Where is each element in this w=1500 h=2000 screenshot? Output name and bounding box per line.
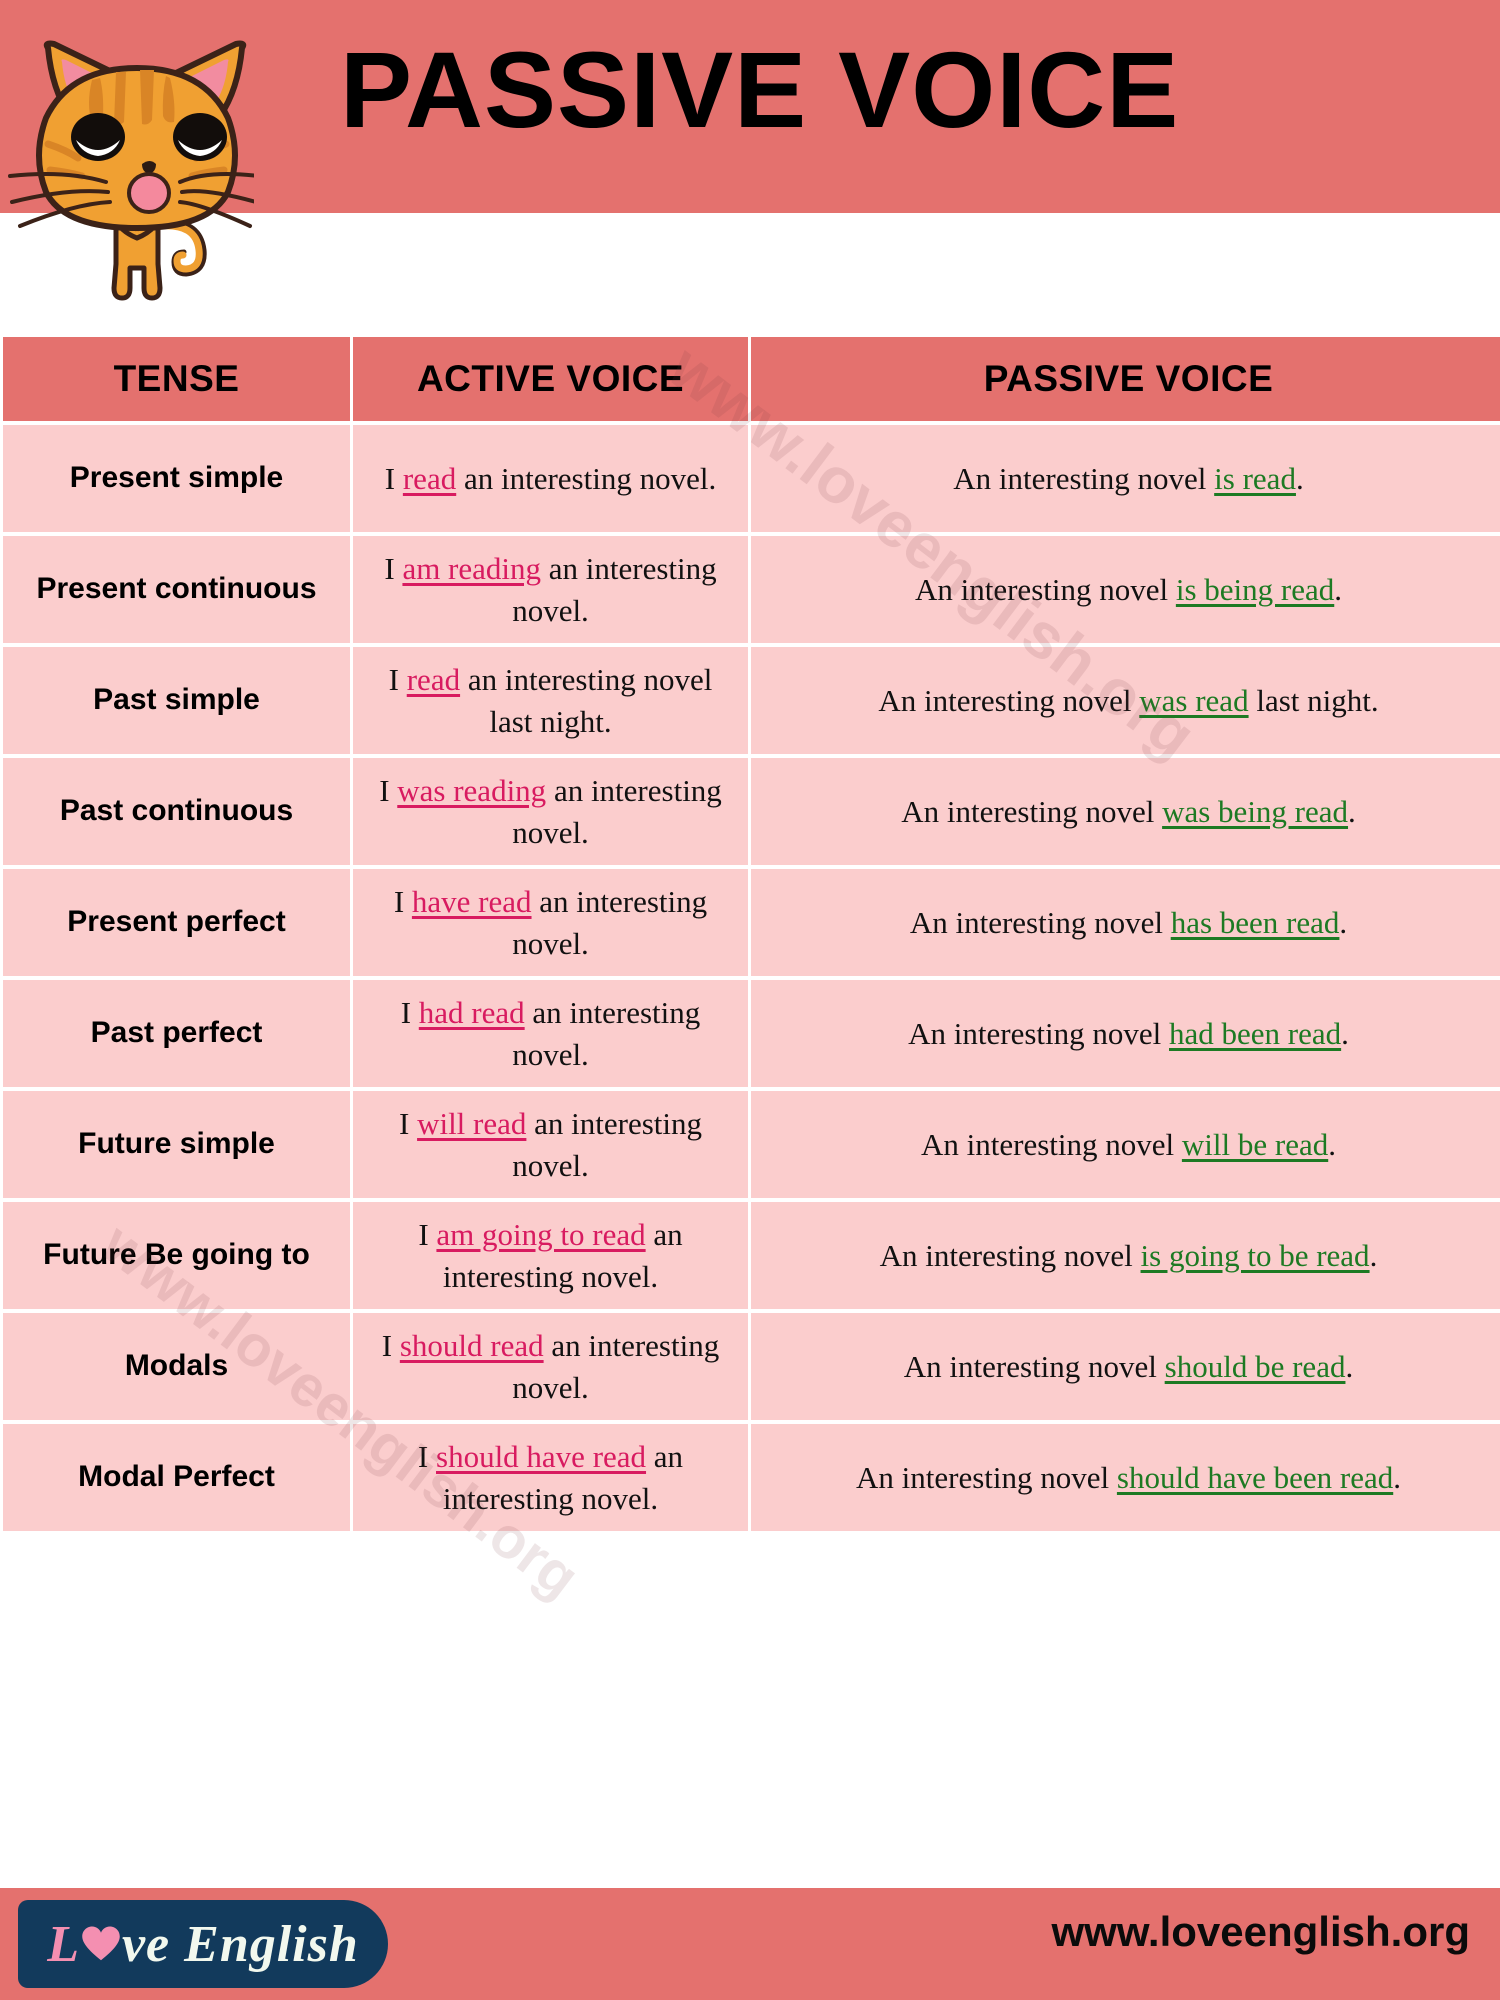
passive-highlight: is being read [1176, 572, 1334, 607]
active-post: an interesting novel. [456, 461, 716, 496]
active-sentence: I am reading an interesting novel. [353, 536, 748, 643]
passive-highlight: should be read [1165, 1349, 1346, 1384]
page-title: PASSIVE VOICE [340, 36, 1340, 144]
heart-icon [81, 1924, 121, 1964]
passive-post: . [1370, 1238, 1378, 1273]
passive-post: . [1393, 1460, 1401, 1495]
active-pre: I [401, 995, 419, 1030]
passive-pre: An interesting novel [910, 905, 1171, 940]
active-highlight: have read [412, 884, 532, 919]
infographic-page: PASSIVE VOICE [0, 0, 1500, 2000]
table-header-row: TENSE ACTIVE VOICE PASSIVE VOICE [3, 337, 1500, 421]
active-post: an interesting novel last night. [460, 662, 712, 739]
tense-label: Past simple [3, 647, 350, 754]
passive-sentence: An interesting novel has been read. [751, 869, 1500, 976]
active-post: an interesting novel. [512, 1106, 702, 1183]
logo-suffix: ve English [122, 1915, 359, 1974]
passive-highlight: had been read [1169, 1016, 1341, 1051]
table-row: Modal Perfect I should have read an inte… [3, 1424, 1500, 1531]
passive-highlight: was being read [1162, 794, 1348, 829]
passive-sentence: An interesting novel was being read. [751, 758, 1500, 865]
tense-label: Modals [3, 1313, 350, 1420]
tense-label: Past continuous [3, 758, 350, 865]
table-body: Present simple I read an interesting nov… [3, 425, 1500, 1531]
table-row: Present perfect I have read an interesti… [3, 869, 1500, 976]
passive-highlight: is read [1214, 461, 1296, 496]
active-pre: I [418, 1217, 436, 1252]
tense-label: Future Be going to [3, 1202, 350, 1309]
passive-pre: An interesting novel [878, 683, 1139, 718]
active-sentence: I read an interesting novel last night. [353, 647, 748, 754]
active-sentence: I had read an interesting novel. [353, 980, 748, 1087]
love-english-logo[interactable]: L ve English [18, 1900, 388, 1988]
active-pre: I [394, 884, 412, 919]
logo-prefix: L [47, 1915, 80, 1974]
tense-label: Future simple [3, 1091, 350, 1198]
active-highlight: was reading [397, 773, 546, 808]
active-sentence: I should read an interesting novel. [353, 1313, 748, 1420]
active-sentence: I was reading an interesting novel. [353, 758, 748, 865]
passive-sentence: An interesting novel is read. [751, 425, 1500, 532]
tense-label: Present continuous [3, 536, 350, 643]
table-row: Past perfect I had read an interesting n… [3, 980, 1500, 1087]
tense-label: Present perfect [3, 869, 350, 976]
passive-pre: An interesting novel [880, 1238, 1141, 1273]
active-pre: I [382, 1328, 400, 1363]
active-highlight: will read [417, 1106, 526, 1141]
active-post: an interesting novel. [512, 884, 707, 961]
passive-sentence: An interesting novel was read last night… [751, 647, 1500, 754]
passive-pre: An interesting novel [904, 1349, 1165, 1384]
passive-post: . [1334, 572, 1342, 607]
active-sentence: I will read an interesting novel. [353, 1091, 748, 1198]
orange-tabby-cat-icon [4, 6, 254, 316]
passive-sentence: An interesting novel should have been re… [751, 1424, 1500, 1531]
table-row: Future simple I will read an interesting… [3, 1091, 1500, 1198]
passive-sentence: An interesting novel is being read. [751, 536, 1500, 643]
table-row: Modals I should read an interesting nove… [3, 1313, 1500, 1420]
passive-highlight: should have been read [1117, 1460, 1393, 1495]
active-sentence: I am going to read an interesting novel. [353, 1202, 748, 1309]
active-post: an interesting novel. [512, 1328, 719, 1405]
active-pre: I [385, 461, 403, 496]
logo-text: L ve English [47, 1915, 359, 1974]
passive-post: . [1339, 905, 1347, 940]
active-sentence: I should have read an interesting novel. [353, 1424, 748, 1531]
active-pre: I [384, 551, 402, 586]
passive-post: . [1345, 1349, 1353, 1384]
active-highlight: should have read [436, 1439, 646, 1474]
passive-pre: An interesting novel [901, 794, 1162, 829]
passive-sentence: An interesting novel should be read. [751, 1313, 1500, 1420]
table-row: Past simple I read an interesting novel … [3, 647, 1500, 754]
passive-voice-table: TENSE ACTIVE VOICE PASSIVE VOICE Present… [0, 333, 1500, 1535]
active-highlight: am reading [402, 551, 541, 586]
passive-voice-table-wrapper: TENSE ACTIVE VOICE PASSIVE VOICE Present… [0, 333, 1500, 1888]
active-sentence: I read an interesting novel. [353, 425, 748, 532]
column-header-tense: TENSE [3, 337, 350, 421]
footer-website-url[interactable]: www.loveenglish.org [1051, 1908, 1470, 1956]
active-sentence: I have read an interesting novel. [353, 869, 748, 976]
active-highlight: am going to read [436, 1217, 645, 1252]
passive-highlight: has been read [1171, 905, 1340, 940]
table-row: Present simple I read an interesting nov… [3, 425, 1500, 532]
active-pre: I [418, 1439, 436, 1474]
tense-label: Modal Perfect [3, 1424, 350, 1531]
table-row: Past continuous I was reading an interes… [3, 758, 1500, 865]
passive-post: . [1328, 1127, 1336, 1162]
passive-post: . [1296, 461, 1304, 496]
passive-post: . [1341, 1016, 1349, 1051]
passive-highlight: is going to be read [1141, 1238, 1370, 1273]
passive-highlight: was read [1139, 683, 1248, 718]
column-header-passive-voice: PASSIVE VOICE [751, 337, 1500, 421]
active-highlight: read [407, 662, 460, 697]
passive-sentence: An interesting novel had been read. [751, 980, 1500, 1087]
active-pre: I [379, 773, 397, 808]
table-row: Present continuous I am reading an inter… [3, 536, 1500, 643]
passive-sentence: An interesting novel will be read. [751, 1091, 1500, 1198]
passive-sentence: An interesting novel is going to be read… [751, 1202, 1500, 1309]
column-header-active-voice: ACTIVE VOICE [353, 337, 748, 421]
table-row: Future Be going to I am going to read an… [3, 1202, 1500, 1309]
passive-pre: An interesting novel [921, 1127, 1182, 1162]
passive-post: . [1348, 794, 1356, 829]
tense-label: Present simple [3, 425, 350, 532]
passive-pre: An interesting novel [908, 1016, 1169, 1051]
passive-pre: An interesting novel [915, 572, 1176, 607]
passive-highlight: will be read [1182, 1127, 1328, 1162]
active-highlight: had read [419, 995, 525, 1030]
active-pre: I [399, 1106, 417, 1141]
active-highlight: should read [400, 1328, 544, 1363]
passive-post: last night. [1249, 683, 1379, 718]
active-pre: I [389, 662, 407, 697]
passive-pre: An interesting novel [953, 461, 1214, 496]
active-post: an interesting novel. [512, 551, 716, 628]
tense-label: Past perfect [3, 980, 350, 1087]
passive-pre: An interesting novel [856, 1460, 1117, 1495]
active-highlight: read [403, 461, 456, 496]
active-post: an interesting novel. [512, 995, 700, 1072]
